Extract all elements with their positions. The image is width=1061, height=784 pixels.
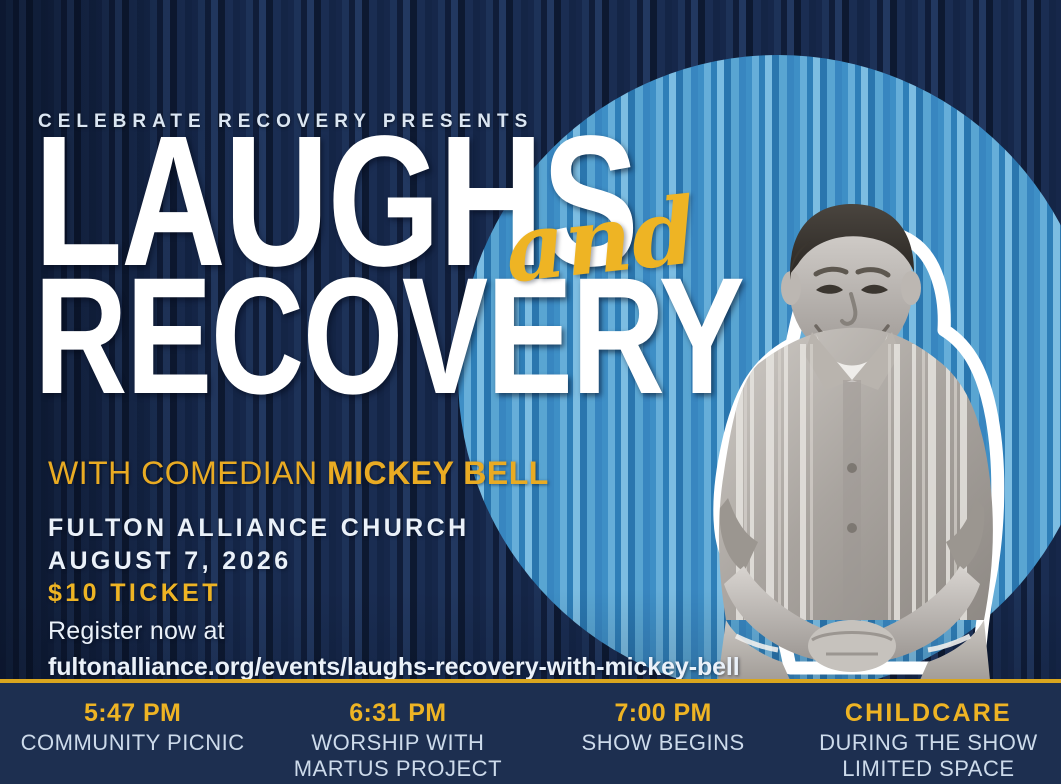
- register-label: Register now at: [48, 616, 740, 647]
- schedule-desc: COMMUNITY PICNIC: [0, 730, 265, 756]
- schedule-item-1: 5:47 PM COMMUNITY PICNIC: [0, 683, 265, 756]
- schedule-time: 5:47 PM: [0, 699, 265, 727]
- register-url-link[interactable]: fultonalliance.org/events/laughs-recover…: [48, 652, 740, 683]
- schedule-desc: DURING THE SHOWLIMITED SPACE: [796, 730, 1061, 782]
- schedule-time: CHILDCARE: [796, 699, 1061, 727]
- schedule-desc: SHOW BEGINS: [531, 730, 796, 756]
- event-details: FULTON ALLIANCE CHURCH AUGUST 7, 2026 $1…: [48, 512, 740, 683]
- schedule-desc: WORSHIP WITHMARTUS PROJECT: [265, 730, 530, 782]
- page-title: LAUGHS RECOVERY: [34, 128, 943, 404]
- title-conjunction-and: and: [500, 176, 701, 303]
- schedule-item-4: CHILDCARE DURING THE SHOWLIMITED SPACE: [796, 683, 1061, 782]
- schedule-item-3: 7:00 PM SHOW BEGINS: [531, 683, 796, 756]
- comedian-line: WITH COMEDIAN MICKEY BELL: [48, 455, 549, 492]
- comedian-name: MICKEY BELL: [327, 455, 549, 491]
- event-poster: CELEBRATE RECOVERY PRESENTS LAUGHS RECOV…: [0, 0, 1061, 784]
- title-line-recovery: RECOVERY: [34, 271, 743, 404]
- venue-text: FULTON ALLIANCE CHURCH: [48, 512, 740, 545]
- date-text: AUGUST 7, 2026: [48, 545, 740, 578]
- comedian-prefix: WITH COMEDIAN: [48, 455, 327, 491]
- schedule-item-2: 6:31 PM WORSHIP WITHMARTUS PROJECT: [265, 683, 530, 782]
- schedule-time: 7:00 PM: [531, 699, 796, 727]
- schedule-time: 6:31 PM: [265, 699, 530, 727]
- schedule-bar: 5:47 PM COMMUNITY PICNIC 6:31 PM WORSHIP…: [0, 683, 1061, 784]
- ticket-price-text: $10 TICKET: [48, 577, 740, 610]
